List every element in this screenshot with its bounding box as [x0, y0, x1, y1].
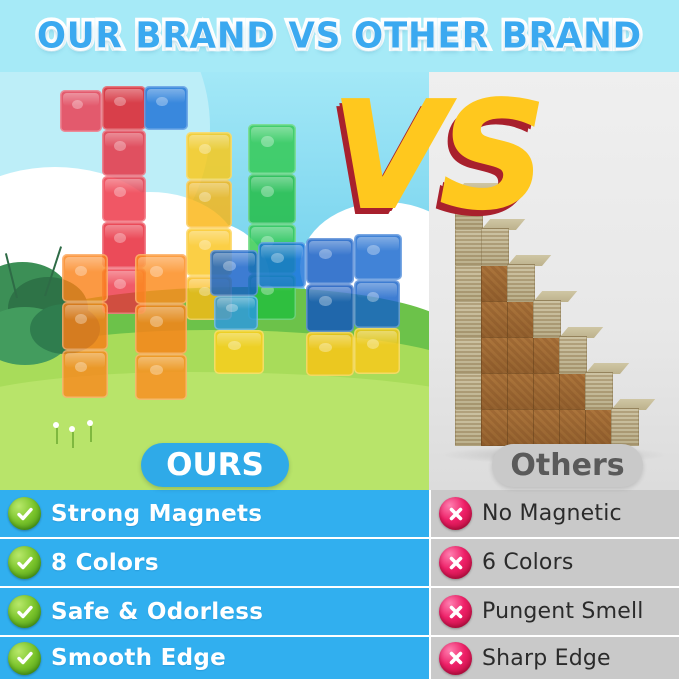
magnetic-cube: [248, 174, 296, 224]
cork-block-face: [507, 300, 535, 338]
check-icon: [8, 546, 41, 579]
cork-block-face: [533, 372, 561, 410]
others-feature-cell: No Magnetic: [431, 490, 679, 537]
flower-icon: [53, 422, 59, 428]
ours-feature-label: Smooth Edge: [51, 645, 226, 671]
cork-block-face: [559, 408, 587, 446]
others-feature-cell: Sharp Edge: [431, 637, 679, 679]
table-row: Strong Magnets No Magnetic: [0, 490, 679, 537]
wood-block-face: [585, 372, 613, 410]
magnetic-cube: [186, 132, 232, 180]
others-feature-label: 6 Colors: [482, 550, 574, 575]
others-feature-label: Sharp Edge: [482, 646, 611, 671]
flower-icon: [69, 426, 75, 432]
wood-block-face: [611, 408, 639, 446]
vs-label: VS: [331, 82, 540, 230]
magnetic-cube: [62, 350, 108, 398]
others-feature-cell: Pungent Smell: [431, 588, 679, 635]
flower-icon: [87, 420, 93, 426]
magnetic-cube: [135, 304, 187, 354]
cork-block-face: [533, 408, 561, 446]
magnetic-cube: [214, 296, 258, 330]
table-row: Smooth Edge Sharp Edge: [0, 637, 679, 679]
magnetic-cube: [62, 254, 108, 302]
cross-icon: [439, 642, 472, 675]
ours-feature-cell: 8 Colors: [0, 539, 429, 586]
table-row: Safe & Odorless Pungent Smell: [0, 588, 679, 635]
magnetic-cube: [135, 254, 187, 304]
cork-block-face: [481, 336, 509, 374]
cork-block-face: [507, 336, 535, 374]
cork-block-face: [481, 372, 509, 410]
magnetic-cube: [248, 124, 296, 174]
wood-block-face: [455, 372, 483, 410]
ours-feature-cell: Smooth Edge: [0, 637, 429, 679]
ours-feature-cell: Strong Magnets: [0, 490, 429, 537]
ours-feature-label: Strong Magnets: [51, 501, 262, 527]
wood-block-face: [455, 264, 483, 302]
magnetic-cube: [306, 332, 354, 376]
magnetic-cube: [354, 328, 400, 374]
check-icon: [8, 642, 41, 675]
cork-block-face: [481, 408, 509, 446]
ours-feature-cell: Safe & Odorless: [0, 588, 429, 635]
comparison-infographic: OUR BRAND VS OTHER BRAND: [0, 0, 679, 679]
cork-block-face: [585, 408, 613, 446]
magnetic-cube: [102, 86, 146, 130]
others-feature-label: No Magnetic: [482, 501, 622, 526]
wood-block-face: [455, 408, 483, 446]
header-banner: OUR BRAND VS OTHER BRAND: [0, 0, 679, 72]
others-feature-label: Pungent Smell: [482, 599, 644, 624]
cross-icon: [439, 546, 472, 579]
check-icon: [8, 595, 41, 628]
magnetic-cube: [354, 280, 400, 328]
magnetic-cube: [306, 238, 354, 284]
cork-block-face: [507, 408, 535, 446]
magnetic-cube: [186, 180, 232, 228]
page-title: OUR BRAND VS OTHER BRAND: [37, 15, 642, 57]
magnetic-cube: [210, 250, 258, 296]
feature-comparison-table: Strong Magnets No Magnetic 8 Colors: [0, 490, 679, 679]
others-feature-cell: 6 Colors: [431, 539, 679, 586]
ours-feature-label: Safe & Odorless: [51, 599, 263, 625]
check-icon: [8, 497, 41, 530]
wood-block-face: [455, 336, 483, 374]
flower-stem: [72, 432, 74, 448]
magnetic-cube: [102, 176, 146, 222]
magnetic-cube: [258, 242, 306, 288]
comparison-scene: VS: [0, 72, 679, 490]
ours-badge: OURS: [141, 443, 289, 487]
table-row: 8 Colors 6 Colors: [0, 539, 679, 586]
flower-stem: [90, 426, 92, 442]
others-badge: Others: [492, 444, 643, 487]
cross-icon: [439, 497, 472, 530]
wood-block-face: [455, 300, 483, 338]
cork-block-face: [507, 372, 535, 410]
magnetic-cube: [102, 130, 146, 176]
magnetic-cube: [144, 86, 188, 130]
magnetic-cube: [60, 90, 102, 132]
wood-block-face: [533, 300, 561, 338]
ours-feature-label: 8 Colors: [51, 550, 159, 576]
wood-block-face: [507, 264, 535, 302]
magnetic-cube: [306, 284, 354, 332]
flower-stem: [56, 428, 58, 444]
magnetic-cube: [214, 330, 264, 374]
magnetic-cube: [135, 354, 187, 400]
wood-block-face: [559, 336, 587, 374]
cork-block-face: [481, 300, 509, 338]
cork-block-face: [533, 336, 561, 374]
cork-block-face: [481, 264, 509, 302]
cork-block-face: [559, 372, 587, 410]
magnetic-cube: [62, 302, 108, 350]
cross-icon: [439, 595, 472, 628]
